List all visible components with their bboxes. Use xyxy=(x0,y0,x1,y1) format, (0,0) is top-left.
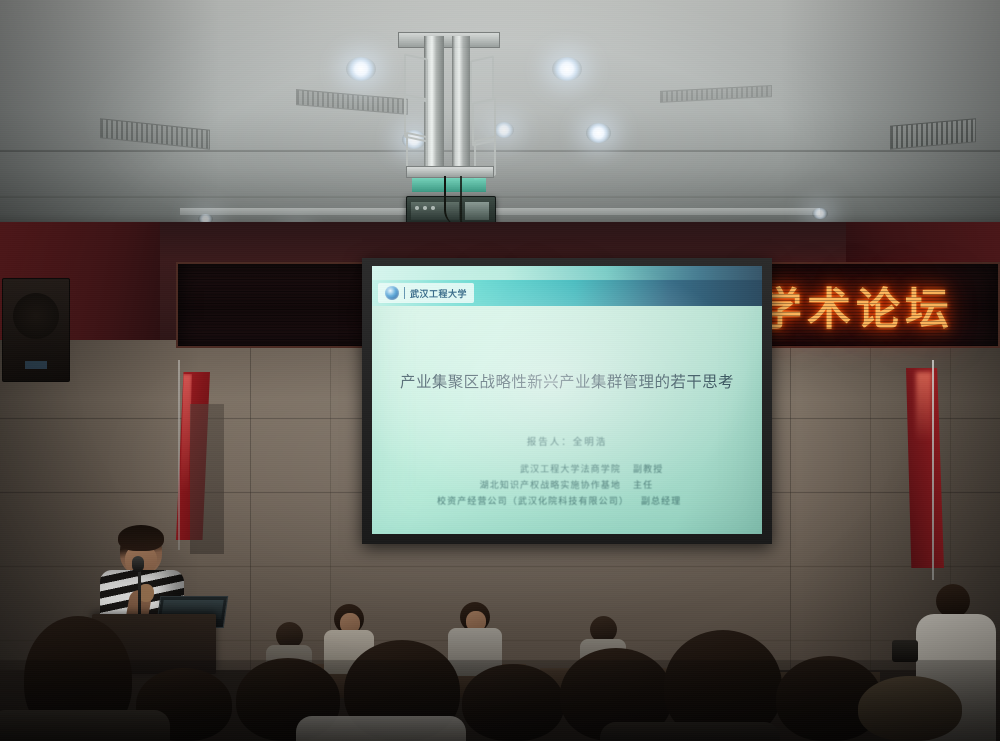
affiliation-role: 主任 xyxy=(633,478,689,491)
ceiling-downlight xyxy=(586,123,611,143)
affiliation-role: 副教授 xyxy=(633,462,689,475)
lift-column xyxy=(452,36,470,168)
foreground-shoulders xyxy=(600,722,780,741)
ceiling-downlight xyxy=(812,208,828,219)
ceiling xyxy=(0,0,1000,232)
slide-presenter-line: 报告人：全明浩 xyxy=(372,434,762,448)
affiliation-org: 湖北知识产权战略实施协作基地 xyxy=(445,478,621,491)
slide-affiliation-list: 武汉工程大学法商学院 副教授 湖北知识产权战略实施协作基地 主任 校资产经营公司… xyxy=(372,462,762,510)
podium-microphone xyxy=(132,556,144,572)
projection-screen: 武汉工程大学 产业集聚区战略性新兴产业集群管理的若干思考 报告人：全明浩 武汉工… xyxy=(372,266,762,534)
university-seal-icon xyxy=(385,286,399,300)
affiliation-row: 武汉工程大学法商学院 副教授 xyxy=(372,462,762,475)
affiliation-row: 湖北知识产权战略实施协作基地 主任 xyxy=(372,478,762,491)
red-flag-right-highlight xyxy=(916,372,932,442)
slide-title: 产业集聚区战略性新兴产业集群管理的若干思考 xyxy=(372,370,762,392)
led-banner-right-text: 学术论坛 xyxy=(758,273,954,337)
affiliation-org: 校资产经营公司（武汉化院科技有限公司） xyxy=(437,494,629,507)
affiliation-row: 校资产经营公司（武汉化院科技有限公司） 副总经理 xyxy=(372,494,762,507)
ceiling-downlight xyxy=(552,57,582,81)
affiliation-role: 副总经理 xyxy=(641,494,697,507)
seated-attendee xyxy=(446,602,504,672)
foreground-head xyxy=(462,664,564,741)
affiliation-org: 武汉工程大学法商学院 xyxy=(445,462,621,475)
university-logo-block: 武汉工程大学 xyxy=(378,283,474,303)
handheld-camera xyxy=(892,640,918,662)
university-name: 武汉工程大学 xyxy=(410,287,467,300)
flagpole-left xyxy=(178,360,180,550)
ceiling-downlight xyxy=(494,122,514,138)
foreground-shoulders xyxy=(0,710,170,741)
foreground-head xyxy=(858,676,962,741)
presenter-hair xyxy=(118,525,164,551)
lift-ceiling-plate xyxy=(398,32,500,48)
ceiling-downlight xyxy=(346,57,376,81)
slide-header-top-band xyxy=(372,266,762,280)
wall-mounted-loudspeaker xyxy=(2,278,70,382)
flagpole-right xyxy=(932,360,934,580)
stage-side-panel xyxy=(190,404,224,554)
projector-cable xyxy=(444,176,460,226)
lecture-hall-photo: 战略性新 学术论坛 武汉工程大学 产业集聚区战略性新兴产业集群管理的若干思考 报… xyxy=(0,0,1000,741)
logo-divider xyxy=(404,287,405,299)
foreground-shoulders xyxy=(296,716,466,741)
